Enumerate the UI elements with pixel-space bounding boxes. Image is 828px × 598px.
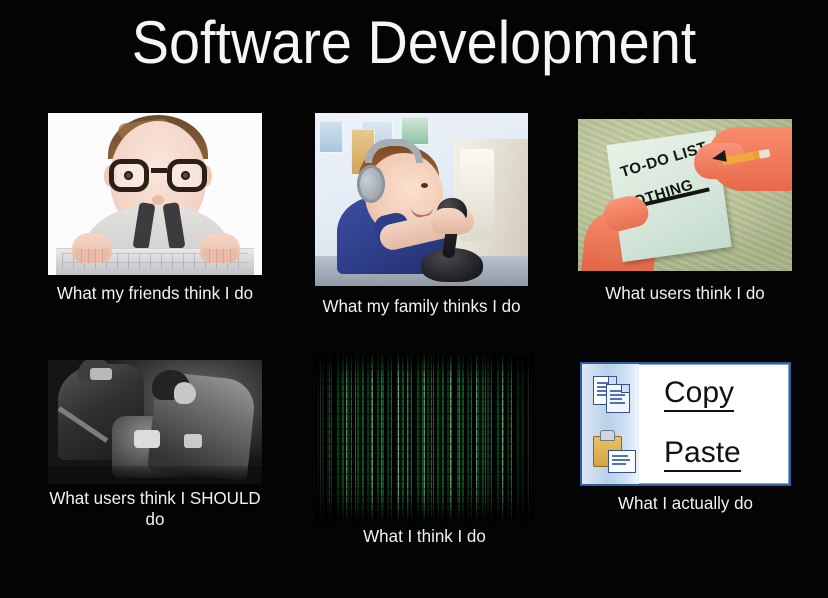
panel-i-think-caption: What I think I do <box>318 526 530 547</box>
copy-icon <box>593 376 631 412</box>
headphone-earcup-shape <box>357 165 385 203</box>
monitor-shape <box>454 139 528 263</box>
shadow-overlay <box>48 466 262 484</box>
panel-friends-image <box>48 113 262 275</box>
panel-users-should-caption: What users think I SHOULD do <box>40 488 271 530</box>
meme-image: Software Development What my <box>0 0 828 598</box>
panel-family-caption: What my family thinks I do <box>318 296 525 317</box>
glasses-bridge-shape <box>151 168 167 173</box>
highlight-shape <box>184 434 202 448</box>
highlight-shape <box>90 368 112 380</box>
paste-icon <box>593 434 635 472</box>
right-hand-shape <box>200 233 240 261</box>
text-line-shape <box>610 398 622 400</box>
text-line-shape <box>610 394 625 396</box>
right-eye-shape <box>181 171 190 180</box>
text-line-shape <box>610 402 625 404</box>
panel-users-think-image: TO-DO LIST NOTHING <box>578 119 792 271</box>
highlight-shape <box>134 430 160 448</box>
panel-users-should-image <box>48 360 262 484</box>
hand-shape <box>431 208 467 234</box>
context-menu: Copy Paste <box>580 362 791 486</box>
folded-corner-shape <box>621 385 629 393</box>
menu-item-paste-label: Paste <box>664 437 741 472</box>
document-shape <box>606 384 630 413</box>
page-title: Software Development <box>29 8 799 78</box>
menu-item-copy-label: Copy <box>664 377 734 412</box>
left-hand-shape <box>72 233 112 261</box>
wall-picture-shape <box>319 121 343 153</box>
text-line-shape <box>612 455 628 457</box>
panel-i-think-image <box>315 355 534 521</box>
vignette-overlay <box>315 355 534 521</box>
panel-family-image <box>315 113 528 286</box>
left-eye-shape <box>124 171 133 180</box>
menu-item-paste[interactable]: Paste <box>638 424 789 484</box>
clipboard-clasp-shape <box>600 430 615 441</box>
panel-users-think-caption: What users think I do <box>581 283 789 304</box>
text-line-shape <box>612 463 626 465</box>
menu-item-copy[interactable]: Copy <box>638 364 789 424</box>
worker-b-face-shape <box>174 382 196 404</box>
document-shape <box>608 450 636 473</box>
eye-shape <box>421 183 428 188</box>
panel-friends-caption: What my friends think I do <box>51 283 259 304</box>
nose-shape <box>152 195 164 205</box>
glasses-icon <box>108 159 208 193</box>
text-line-shape <box>612 459 630 461</box>
panel-i-actually-do-caption: What I actually do <box>583 493 788 514</box>
